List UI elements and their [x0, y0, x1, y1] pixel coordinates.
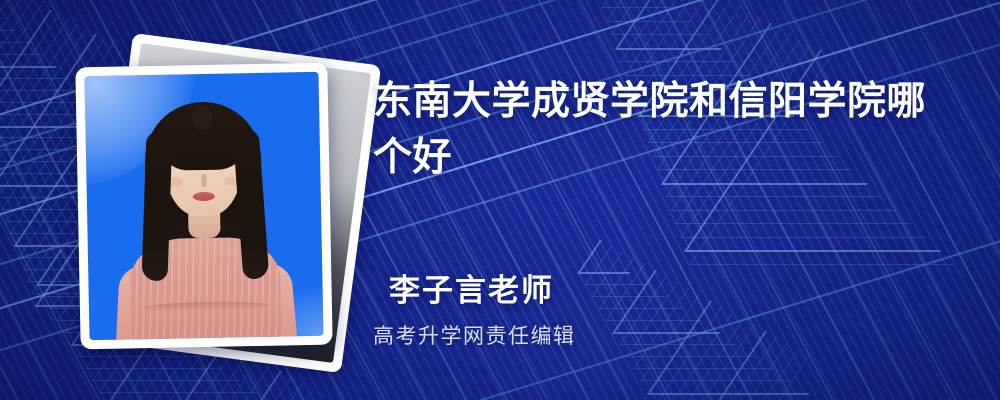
author-portrait-photo [84, 72, 323, 340]
text-column: 东南大学成贤学院和信阳学院哪个好 李子言老师 高考升学网责任编辑 [373, 0, 973, 400]
photo-frame-front [75, 63, 332, 350]
hair-strand-left [142, 131, 173, 282]
portrait-figure [84, 72, 323, 340]
article-cover-banner: 东南大学成贤学院和信阳学院哪个好 李子言老师 高考升学网责任编辑 [0, 0, 1000, 400]
author-role-label: 高考升学网责任编辑 [373, 322, 576, 352]
photo-stack [42, 28, 382, 378]
page-title: 东南大学成贤学院和信阳学院哪个好 [373, 74, 955, 186]
nose [201, 174, 206, 187]
author-name: 李子言老师 [389, 271, 554, 311]
